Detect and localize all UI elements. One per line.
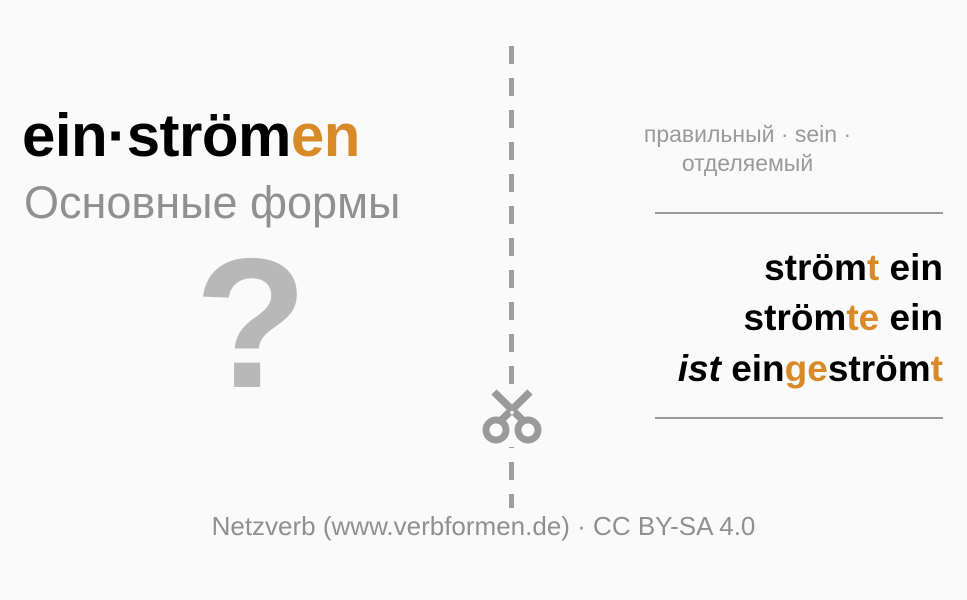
form-part: ein	[879, 297, 943, 338]
form-part-auxiliary: ist	[678, 348, 721, 389]
principal-form-perfect: ist eingeströmt	[560, 344, 943, 394]
form-part-accent: t	[867, 247, 879, 288]
flashcard: ein·strömen Основные формы ? правильный …	[0, 0, 967, 600]
verb-attributes-line-1: правильный · sein ·	[644, 121, 851, 147]
verb-ending: en	[291, 102, 360, 169]
verb-headword: ein·strömen	[22, 101, 360, 170]
form-part-accent: t	[931, 348, 943, 389]
principal-form-present: strömt ein	[560, 243, 943, 293]
scissors-icon	[478, 385, 546, 447]
form-part-accent: te	[846, 297, 879, 338]
footer-attribution: Netzverb (www.verbformen.de) · CC BY-SA …	[0, 511, 967, 542]
form-part: ström	[828, 348, 931, 389]
form-part: ström	[764, 247, 867, 288]
verb-attributes: правильный · sein · отделяемый	[560, 120, 945, 179]
verb-stem: ström	[127, 102, 291, 169]
verb-attributes-line-2: отделяемый	[682, 150, 813, 176]
form-part: ström	[744, 297, 847, 338]
form-part-accent: ge	[785, 348, 828, 389]
flashcard-back: правильный · sein · отделяемый strömt ei…	[560, 0, 945, 600]
divider-bottom	[655, 417, 943, 419]
form-part: ein	[879, 247, 943, 288]
flashcard-front: ein·strömen Основные формы ?	[0, 0, 500, 600]
question-mark-placeholder: ?	[0, 232, 500, 417]
verb-prefix: ein	[22, 102, 107, 169]
principal-forms-list: strömt ein strömte ein ist eingeströmt	[560, 243, 943, 394]
principal-form-preterite: strömte ein	[560, 293, 943, 343]
form-part: ein	[721, 348, 785, 389]
divider-top	[655, 212, 943, 214]
verb-separator-dot: ·	[107, 102, 126, 169]
